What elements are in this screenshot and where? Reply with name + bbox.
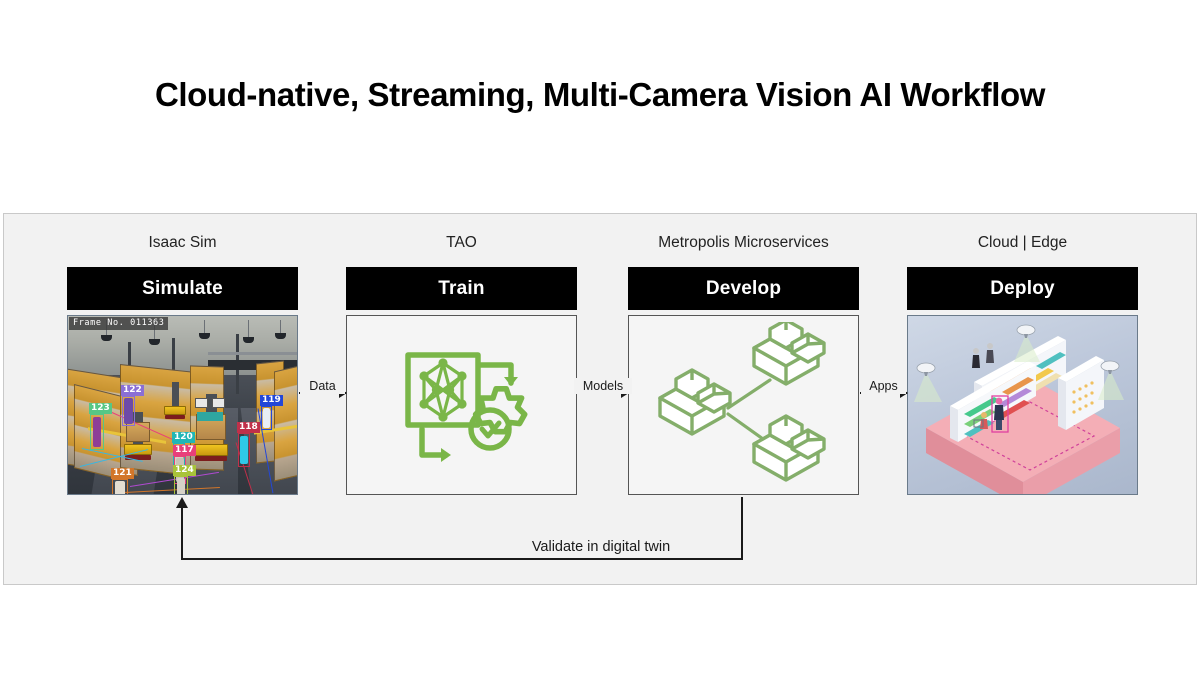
ceiling-lamp-5 [275,333,286,339]
store-shopper-back-1 [972,348,980,368]
detection-id-124: 124 [173,465,196,476]
connector-label-apps: Apps [861,378,906,394]
detection-id-119: 119 [260,395,283,406]
ceiling-rod-5 [280,320,281,334]
retail-store-digital-twin-image [908,316,1137,494]
ceiling-rod-3 [204,320,205,334]
stage-visual-train[interactable] [346,315,577,495]
frame-number-overlay: Frame No. 011363 [69,317,168,330]
workflow-stage-develop: Metropolis Microservices Develop [628,232,859,495]
detection-118: 118 [238,433,250,467]
stage-vendor-label-tao: TAO [346,232,577,254]
warehouse-rack-right-near [274,365,298,482]
detection-id-123: 123 [89,403,112,414]
stage-header-develop[interactable]: Develop [628,267,859,310]
agv-mast-3 [172,382,179,406]
agv-body-3 [164,406,186,415]
stage-header-train[interactable]: Train [346,267,577,310]
store-camera-top [1014,325,1040,362]
stage-vendor-label-metropolis: Metropolis Microservices [628,232,859,254]
detection-person-121 [115,481,125,495]
workflow-stage-train: TAO Train [346,232,577,495]
warehouse-agv-2 [194,394,228,462]
store-camera-left [914,363,942,402]
feedback-loop-label-wrap: Validate in digital twin [4,539,1198,555]
stage-header-simulate[interactable]: Simulate [67,267,298,310]
connector-label-data: Data [300,378,345,394]
feedback-loop-label: Validate in digital twin [522,539,680,555]
workflow-stage-deploy: Cloud | Edge Deploy [907,232,1138,495]
detection-person-122 [124,398,132,423]
ceiling-rod-4 [248,320,249,338]
detection-person-123 [93,417,102,447]
detection-121: 121 [112,479,128,495]
stage-visual-deploy[interactable] [907,315,1138,495]
detection-id-122: 122 [121,385,144,396]
ceiling-lamp-1 [101,335,112,341]
stage-vendor-label-cloud-edge: Cloud | Edge [907,232,1138,254]
agv-package-1 [195,398,208,408]
store-shopper-back-2 [986,343,994,363]
stage-visual-simulate[interactable]: 123 122 120 117 [67,315,298,495]
detection-id-117: 117 [173,445,196,456]
agv-body-2 [194,444,228,456]
warehouse-simulation-image: 123 122 120 117 [68,316,297,494]
detection-122: 122 [122,396,135,426]
detection-id-120: 120 [172,432,195,443]
stage-header-deploy[interactable]: Deploy [907,267,1138,310]
workflow-diagram-panel: Isaac Sim Simulate [3,213,1197,585]
ceiling-lamp-3 [199,333,210,339]
warehouse-agv-3 [164,382,186,422]
detection-person-118 [240,436,248,465]
detection-id-118: 118 [237,422,260,433]
workflow-stage-simulate: Isaac Sim Simulate [67,232,298,495]
neural-network-gear-checkmark-icon [396,343,528,467]
store-twin-illustration [908,316,1137,494]
agv-base-3 [165,415,185,419]
detection-123: 123 [90,414,104,450]
detection-119: 119 [261,406,272,430]
stage-vendor-label-isaac-sim: Isaac Sim [67,232,298,254]
agv-base-2 [195,456,227,461]
stage-visual-develop[interactable] [628,315,859,495]
detection-person-124 [177,478,186,495]
detection-124: 124 [174,476,188,495]
page-title: Cloud-native, Streaming, Multi-Camera Vi… [0,76,1200,114]
ceiling-lamp-2 [149,339,160,345]
ceiling-lamp-4 [243,337,254,343]
detection-person-119 [263,408,270,428]
isometric-modular-blocks-icon [642,322,846,488]
agv-package-2 [212,398,225,408]
agv-teal-bin [197,412,223,421]
warehouse-mezzanine-rail [208,352,298,355]
detection-id-121: 121 [111,468,134,479]
connector-label-models: Models [574,378,632,394]
